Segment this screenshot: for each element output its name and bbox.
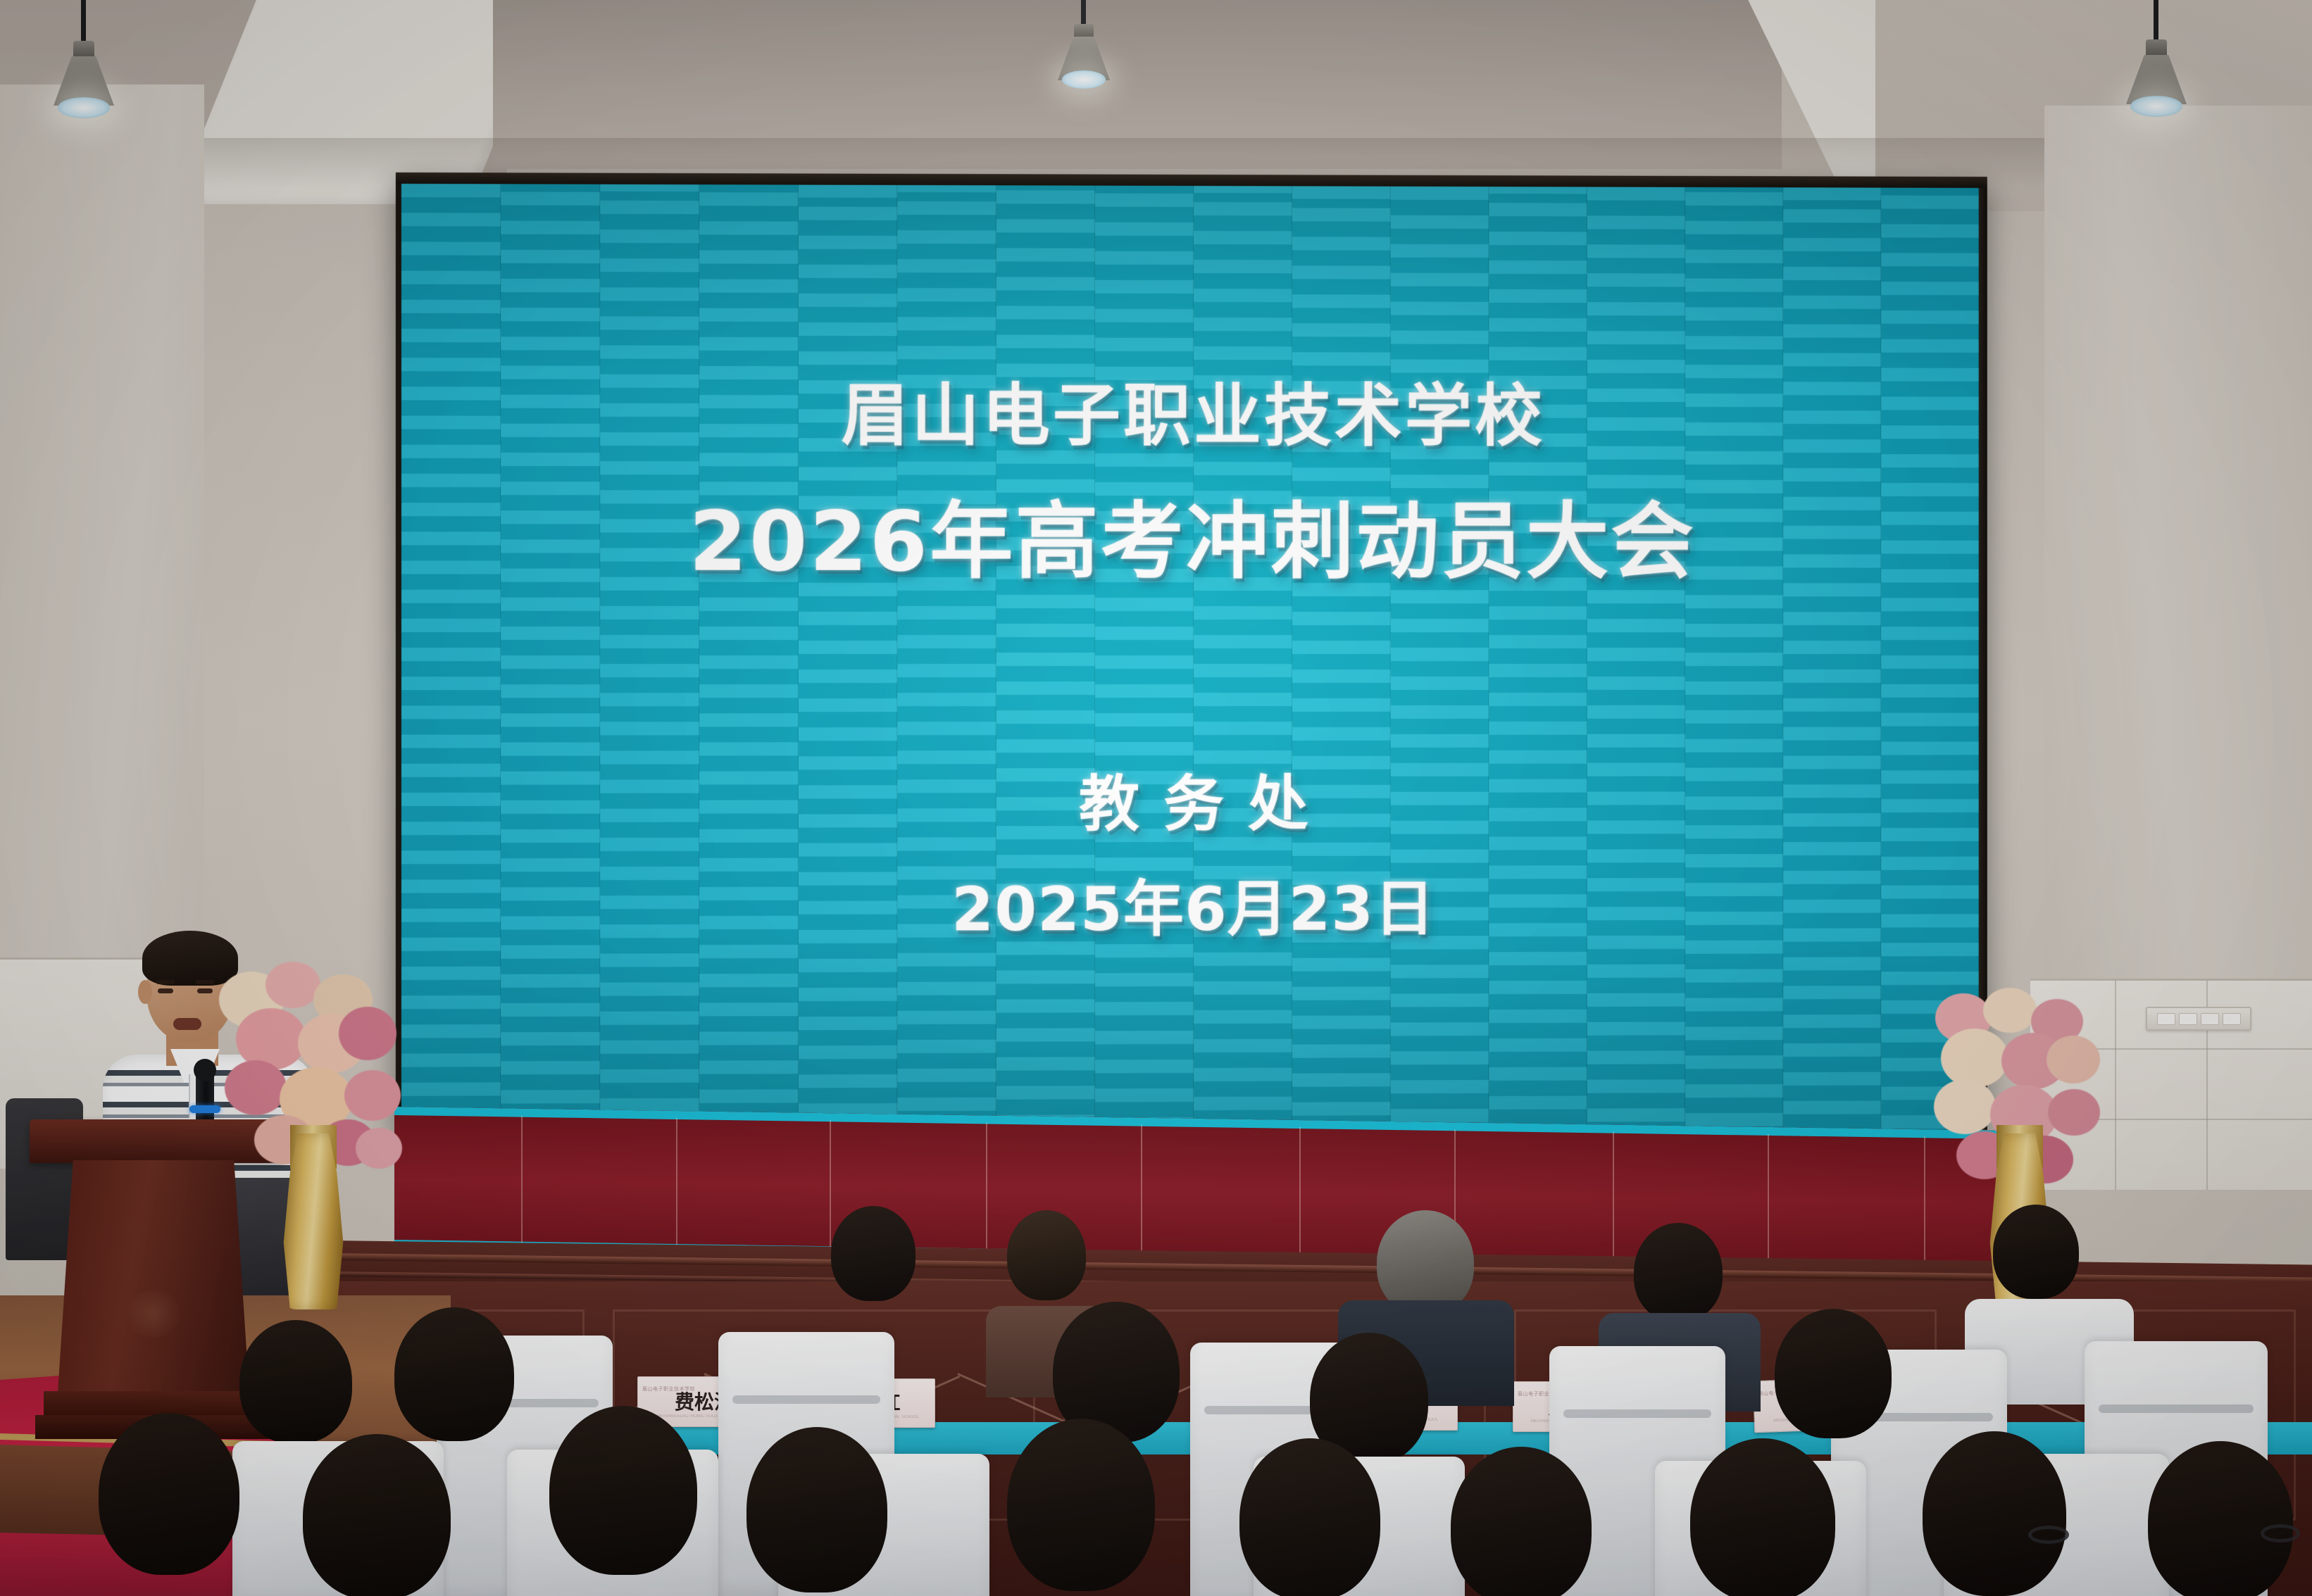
lamp-cord-icon xyxy=(1081,0,1086,25)
audience-head xyxy=(1377,1210,1474,1314)
audience-head xyxy=(1993,1205,2079,1299)
socket-outlet-icon xyxy=(2201,1013,2219,1025)
photo-scene: 眉山电子职业技术学校 2026年高考冲刺动员大会 教务处 2025年6月23日 xyxy=(0,0,2312,1596)
slide-department: 教务处 xyxy=(1055,755,1332,843)
audience-head xyxy=(239,1320,352,1443)
eyeglasses-icon xyxy=(2261,1524,2300,1542)
speaker-ear-left xyxy=(138,980,152,1004)
microphone-head-icon xyxy=(194,1059,216,1081)
audience-head xyxy=(1775,1309,1892,1438)
pendant-lamp-left xyxy=(42,0,127,148)
lamp-cord-icon xyxy=(81,0,86,42)
socket-outlet-icon xyxy=(2223,1013,2241,1025)
slide-text-block: 眉山电子职业技术学校 2026年高考冲刺动员大会 教务处 2025年6月23日 xyxy=(401,184,1979,1134)
slide-date: 2025年6月23日 xyxy=(951,860,1435,948)
audience-head xyxy=(1451,1447,1592,1596)
audience-head xyxy=(303,1434,451,1596)
led-panel-surface: 眉山电子职业技术学校 2026年高考冲刺动员大会 教务处 2025年6月23日 xyxy=(401,184,1979,1134)
screen-bezel-right xyxy=(1979,177,1987,1130)
audience-head xyxy=(1690,1438,1835,1596)
eyeglasses-icon xyxy=(2028,1526,2069,1544)
socket-outlet-icon xyxy=(2179,1013,2197,1025)
audience-head xyxy=(831,1206,916,1301)
audience-head xyxy=(1007,1210,1086,1300)
socket-outlet-icon xyxy=(2157,1013,2175,1025)
audience-head xyxy=(99,1413,239,1575)
pendant-lamp-center xyxy=(1042,0,1127,134)
slide-school-name: 眉山电子职业技术学校 xyxy=(841,360,1545,458)
audience-head xyxy=(394,1307,514,1441)
audience-head xyxy=(1239,1438,1380,1596)
led-display-screen: 眉山电子职业技术学校 2026年高考冲刺动员大会 教务处 2025年6月23日 xyxy=(396,172,1987,1134)
speaker-mouth xyxy=(173,1018,201,1030)
lamp-bulb-icon xyxy=(2130,96,2182,117)
lamp-bulb-icon xyxy=(58,97,110,118)
audience-head xyxy=(1634,1223,1723,1321)
audience-head xyxy=(2148,1441,2293,1596)
slide-event-title: 2026年高考冲刺动员大会 xyxy=(689,473,1695,594)
audience-head xyxy=(1923,1431,2066,1596)
lamp-cord-icon xyxy=(2154,0,2158,41)
audience-head xyxy=(1007,1419,1155,1591)
lamp-bulb-icon xyxy=(1062,70,1106,89)
audience-seating xyxy=(0,1265,2312,1596)
pendant-lamp-right xyxy=(2115,0,2199,148)
audience-head xyxy=(746,1427,887,1592)
wall-socket-panel[interactable] xyxy=(2146,1007,2251,1031)
audience-head xyxy=(549,1406,697,1575)
